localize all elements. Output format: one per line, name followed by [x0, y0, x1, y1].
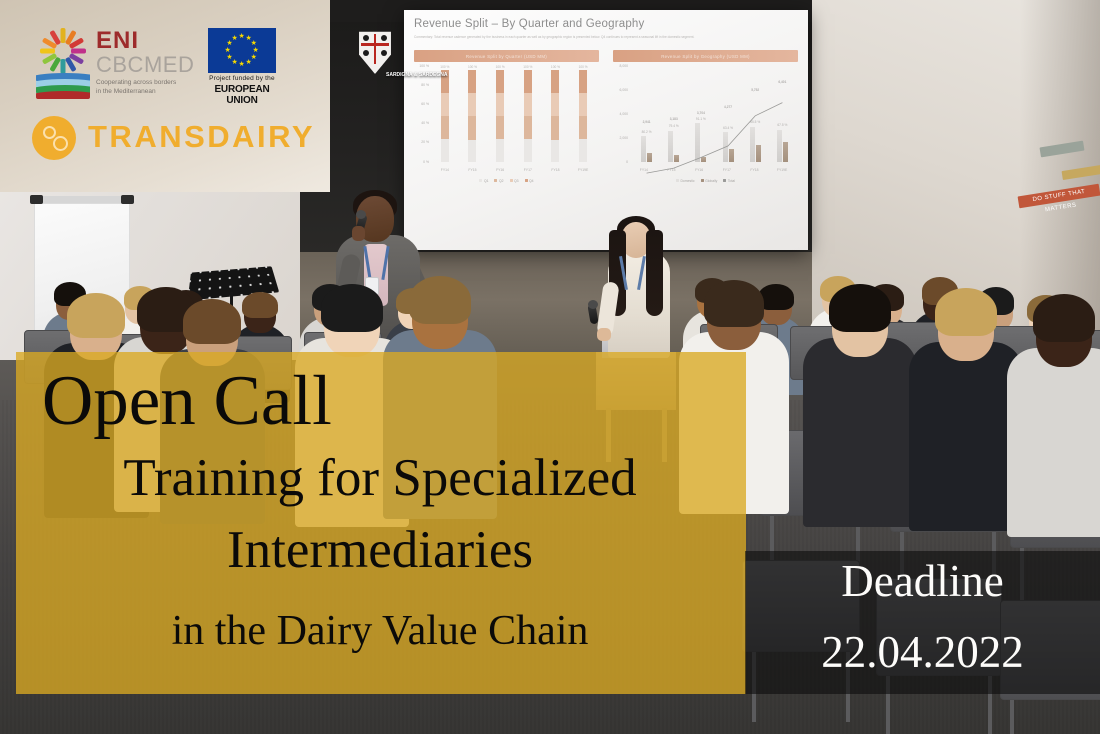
bar-percent-label: 91.1 %	[696, 117, 706, 121]
bar-segment	[524, 139, 532, 161]
bar-segment	[579, 93, 587, 117]
flipchart-clip-left	[30, 195, 43, 204]
bar-group: 79.4 %3,183	[666, 70, 682, 162]
audience-member-hair	[829, 284, 891, 333]
bar-globally	[674, 155, 679, 161]
chart-geo-bars: 80.2 %2,94179.4 %3,18391.1 %3,70463.4 %4…	[633, 70, 796, 162]
audience-member-hair	[67, 293, 125, 338]
legend-entry: Q4	[525, 179, 534, 183]
eu-star-icon: ★	[253, 47, 259, 54]
gear-small-icon	[43, 126, 56, 139]
slide-subtitle: Commentary: Total revenue cadence genera…	[414, 35, 798, 44]
deadline-date: 22.04.2022	[745, 630, 1100, 675]
audience-member-hair	[321, 284, 383, 333]
legend-swatch	[723, 179, 726, 182]
x-tick-label: FY19E	[575, 168, 591, 172]
chart-quarter-yaxis: 0 %20 %40 %60 %80 %100 %	[414, 66, 430, 162]
bar-segment	[441, 93, 449, 117]
total-value-label: 2,941	[643, 120, 651, 124]
audience-member-hair	[935, 288, 997, 337]
bar-value-label: 100 %	[440, 65, 449, 69]
bar-percent-label: 63.4 %	[723, 126, 733, 130]
legend-entry: Domestic	[676, 179, 695, 183]
bar-segment	[468, 70, 476, 94]
legend-entry: Total	[723, 179, 735, 183]
bar-group: 67.5 %6,401	[774, 70, 790, 162]
legend-swatch	[525, 179, 528, 182]
eu-star-icon: ★	[239, 61, 245, 68]
bar-domestic	[723, 132, 728, 161]
audience-member-hair	[183, 299, 241, 344]
bar-globally	[783, 142, 788, 161]
bar-segment	[496, 93, 504, 117]
gear-large-icon	[53, 136, 68, 151]
eni-cbcmed-logo-icon	[36, 28, 92, 98]
bar-segment	[441, 116, 449, 139]
legend-entry: Globally	[701, 179, 718, 183]
european-union-logo: ★★★★★★★★★★★★ Project funded by the EUROP…	[208, 28, 278, 98]
audience-member-hair	[704, 280, 764, 327]
stacked-bar: 100 %	[524, 70, 532, 162]
x-tick-label: FY15	[663, 168, 679, 172]
chart-revenue-by-geography: Revenue Split by Geography (USD MM) 02,0…	[613, 50, 798, 183]
chart-geo-legend: DomesticGloballyTotal	[613, 179, 798, 183]
chart-quarter-legend: Q1Q2Q3Q4	[414, 179, 599, 183]
stacked-bar: 100 %	[551, 70, 559, 162]
x-tick-label: FY16	[691, 168, 707, 172]
chart-quarter-plot: 0 %20 %40 %60 %80 %100 % 100 %100 %100 %…	[414, 66, 599, 178]
headline-line-1: Open Call	[42, 366, 332, 437]
y-tick-label: 40 %	[421, 121, 429, 125]
x-tick-label: FY16	[492, 168, 508, 172]
eu-caption-small: Project funded by the	[208, 75, 276, 82]
stacked-bar: 100 %	[496, 70, 504, 162]
stacked-bar: 100 %	[441, 70, 449, 162]
bar-segment	[551, 93, 559, 116]
chair-leg	[1010, 700, 1014, 734]
x-tick-label: FY14	[636, 168, 652, 172]
total-value-label: 6,401	[778, 80, 786, 84]
bar-globally	[756, 145, 761, 162]
bar-value-label: 100 %	[551, 65, 560, 69]
chart-quarter-title: Revenue Split by Quarter (USD MM)	[414, 50, 599, 62]
y-tick-label: 0	[626, 160, 628, 164]
y-tick-label: 20 %	[421, 140, 429, 144]
eni-petal	[40, 49, 55, 54]
headline-line-3: Intermediaries	[60, 524, 700, 577]
bar-value-label: 100 %	[579, 65, 588, 69]
y-tick-label: 2,000	[620, 136, 629, 140]
bar-value-label: 100 %	[496, 65, 505, 69]
transdairy-wordmark: TRANSDAIRY	[88, 119, 315, 155]
transdairy-gear-icon	[32, 116, 76, 160]
bar-globally	[729, 149, 734, 161]
chart-geo-xlabels: FY14FY15FY16FY17FY18FY19E	[630, 168, 796, 172]
bar-segment	[524, 93, 532, 117]
flipchart-clip-right	[121, 195, 134, 204]
headline-text-group: Open Call Training for Specialized Inter…	[16, 352, 746, 694]
chart-quarter-xlabels: FY14FY15FY16FY17FY18FY19E	[431, 168, 597, 172]
legend-swatch	[701, 179, 704, 182]
chart-quarter-bars: 100 %100 %100 %100 %100 %100 %	[431, 70, 597, 162]
total-value-label: 5,752	[751, 88, 759, 92]
eu-flag-icon: ★★★★★★★★★★★★	[208, 28, 276, 73]
x-tick-label: FY17	[719, 168, 735, 172]
legend-swatch	[479, 179, 482, 182]
deadline-label: Deadline	[745, 559, 1100, 604]
audience-member-hair	[1033, 294, 1095, 343]
bar-segment	[441, 139, 449, 161]
logo-block: ENI CBCMED Cooperating across borders in…	[0, 0, 330, 192]
eu-star-icon: ★	[239, 33, 245, 40]
emblem-cross-horizontal	[361, 43, 390, 46]
bar-domestic	[668, 131, 673, 161]
open-call-poster: DO STUFF THAT MATTERS Revenue Split – By…	[0, 0, 1100, 734]
right-wall-shadow	[1020, 0, 1100, 330]
bar-segment	[579, 116, 587, 139]
chart-revenue-by-quarter: Revenue Split by Quarter (USD MM) 0 %20 …	[414, 50, 599, 183]
bar-globally	[647, 153, 652, 162]
bar-segment	[524, 116, 532, 139]
bar-segment	[468, 93, 476, 116]
bar-group: 65.5 %5,752	[747, 70, 763, 162]
bar-segment	[496, 139, 504, 162]
bar-segment	[551, 116, 559, 140]
eu-star-icon: ★	[251, 40, 257, 47]
total-value-label: 4,277	[724, 105, 732, 109]
y-tick-label: 4,000	[620, 112, 629, 116]
legend-swatch	[676, 179, 679, 182]
y-tick-label: 8,000	[620, 64, 629, 68]
bar-segment	[496, 116, 504, 138]
bar-segment	[496, 70, 504, 93]
y-tick-label: 6,000	[620, 88, 629, 92]
slide-title: Revenue Split – By Quarter and Geography	[414, 18, 798, 30]
eni-sun-ring-icon	[40, 28, 86, 74]
chart-geo-plot: 02,0004,0006,0008,000 80.2 %2,94179.4 %3…	[613, 66, 798, 178]
bar-domestic	[750, 127, 755, 161]
legend-entry: Q1	[479, 179, 488, 183]
bar-segment	[551, 70, 559, 94]
microphone-head-1	[356, 210, 366, 219]
eni-waves-icon	[36, 72, 90, 99]
bar-segment	[468, 140, 476, 161]
chart-geo-title: Revenue Split by Geography (USD MM)	[613, 50, 798, 62]
headline-line-2: Training for Specialized	[60, 452, 700, 505]
x-tick-label: FY18	[746, 168, 762, 172]
y-tick-label: 60 %	[421, 102, 429, 106]
x-tick-label: FY17	[520, 168, 536, 172]
bar-value-label: 100 %	[468, 65, 477, 69]
presenter2-hair-right	[646, 230, 663, 316]
audience-member-hair	[409, 276, 471, 325]
x-tick-label: FY15	[464, 168, 480, 172]
eni-name: ENI	[96, 30, 194, 53]
audience-member-hair	[242, 292, 277, 318]
audience-member-torso	[1007, 348, 1100, 537]
eu-star-icon: ★	[246, 59, 252, 66]
audience-member-torso	[909, 342, 1022, 531]
stacked-bar: 100 %	[579, 70, 587, 162]
eni-wordmark: ENI CBCMED Cooperating across borders in…	[96, 30, 194, 96]
bar-segment	[579, 139, 587, 161]
presenter1-mic-hand	[352, 226, 365, 241]
eu-caption-large: EUROPEAN UNION	[208, 84, 276, 106]
x-tick-label: FY19E	[774, 168, 790, 172]
bar-percent-label: 67.5 %	[777, 123, 787, 127]
flipchart-top-bar	[30, 196, 134, 203]
bar-segment	[468, 116, 476, 140]
presenter2-hand	[597, 328, 611, 341]
deadline-text-group: Deadline 22.04.2022	[745, 551, 1100, 694]
emblem-label: SARDIGNA & SARDEGNA	[386, 72, 447, 78]
bar-domestic	[641, 136, 646, 161]
x-tick-label: FY14	[437, 168, 453, 172]
bar-value-label: 100 %	[523, 65, 532, 69]
legend-swatch	[510, 179, 513, 182]
y-tick-label: 100 %	[419, 64, 429, 68]
bar-segment	[524, 70, 532, 93]
bar-group: 91.1 %3,704	[693, 70, 709, 162]
x-tick-label: FY18	[547, 168, 563, 172]
bar-segment	[579, 70, 587, 93]
chart-geo-yaxis: 02,0004,0006,0008,000	[613, 66, 629, 162]
projection-screen: Revenue Split – By Quarter and Geography…	[404, 10, 808, 250]
stacked-bar: 100 %	[468, 70, 476, 162]
eu-star-icon: ★	[226, 54, 232, 61]
eu-star-icon: ★	[225, 47, 231, 54]
bar-percent-label: 79.4 %	[669, 124, 679, 128]
eni-subname: CBCMED	[96, 54, 194, 76]
legend-entry: Q3	[510, 179, 519, 183]
bar-domestic	[695, 123, 700, 161]
eu-star-icon: ★	[232, 35, 238, 42]
y-tick-label: 80 %	[421, 83, 429, 87]
total-value-label: 3,183	[670, 117, 678, 121]
legend-entry: Q2	[494, 179, 503, 183]
microphone-head-2	[588, 300, 598, 309]
y-tick-label: 0 %	[423, 160, 429, 164]
headline-line-4: in the Dairy Value Chain	[60, 610, 700, 652]
legend-swatch	[494, 179, 497, 182]
bar-group: 63.4 %4,277	[720, 70, 736, 162]
emblem-cross-vertical	[374, 34, 376, 65]
audience-member-torso	[803, 338, 916, 527]
bar-segment	[551, 140, 559, 161]
sardinia-four-moors-emblem	[356, 30, 394, 74]
bar-globally	[701, 157, 706, 161]
bar-domestic	[777, 130, 782, 162]
eni-petal	[71, 49, 86, 54]
bar-percent-label: 65.5 %	[750, 120, 760, 124]
total-value-label: 3,704	[697, 111, 705, 115]
slide-charts: Revenue Split by Quarter (USD MM) 0 %20 …	[414, 50, 798, 183]
bar-percent-label: 80.2 %	[642, 130, 652, 134]
eni-tagline: Cooperating across borders in the Medite…	[96, 79, 194, 97]
bar-group: 80.2 %2,941	[639, 70, 655, 162]
